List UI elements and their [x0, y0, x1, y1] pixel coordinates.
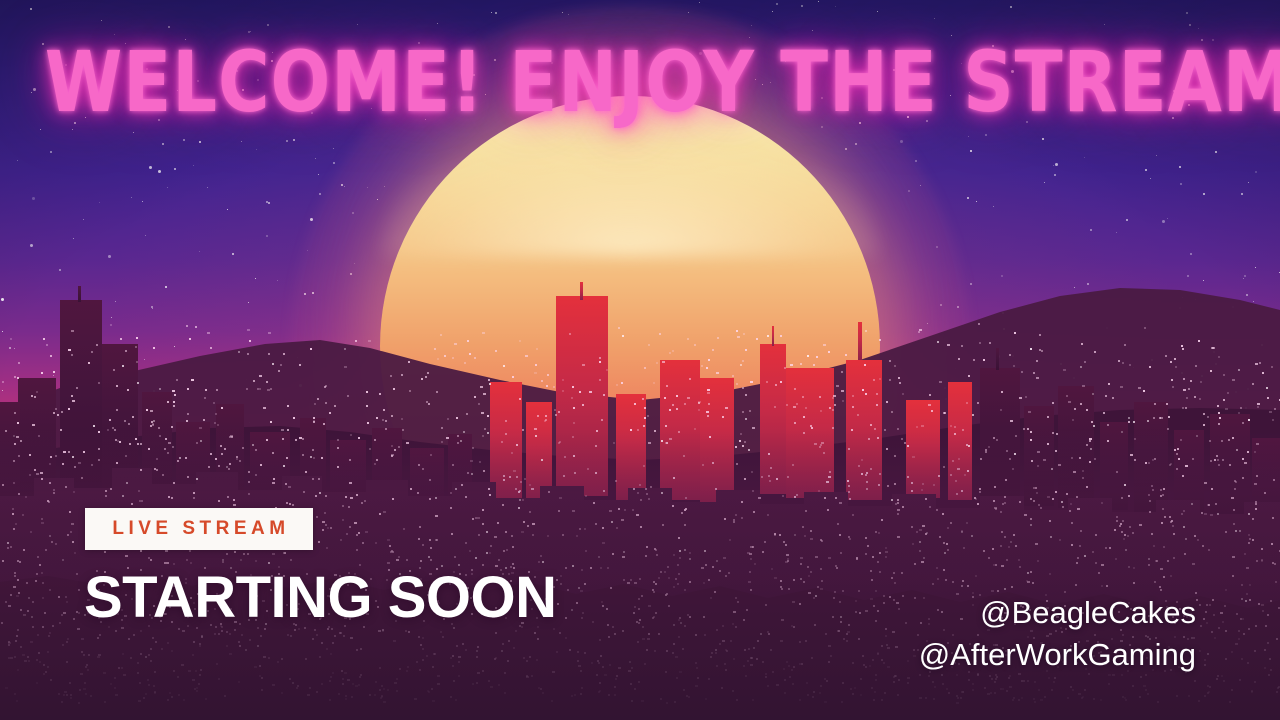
- stream-overlay-screen: WELCOME! ENJOY THE STREAM! LIVE STREAM S…: [0, 0, 1280, 720]
- status-badge: LIVE STREAM: [85, 508, 313, 550]
- handle-secondary: @AfterWorkGaming: [919, 634, 1196, 676]
- page-title: WELCOME! ENJOY THE STREAM!: [45, 36, 1235, 128]
- social-handles: @BeagleCakes @AfterWorkGaming: [919, 592, 1196, 676]
- handle-primary: @BeagleCakes: [919, 592, 1196, 634]
- status-badge-label: LIVE STREAM: [112, 518, 289, 540]
- starting-soon-text: STARTING SOON: [84, 567, 557, 629]
